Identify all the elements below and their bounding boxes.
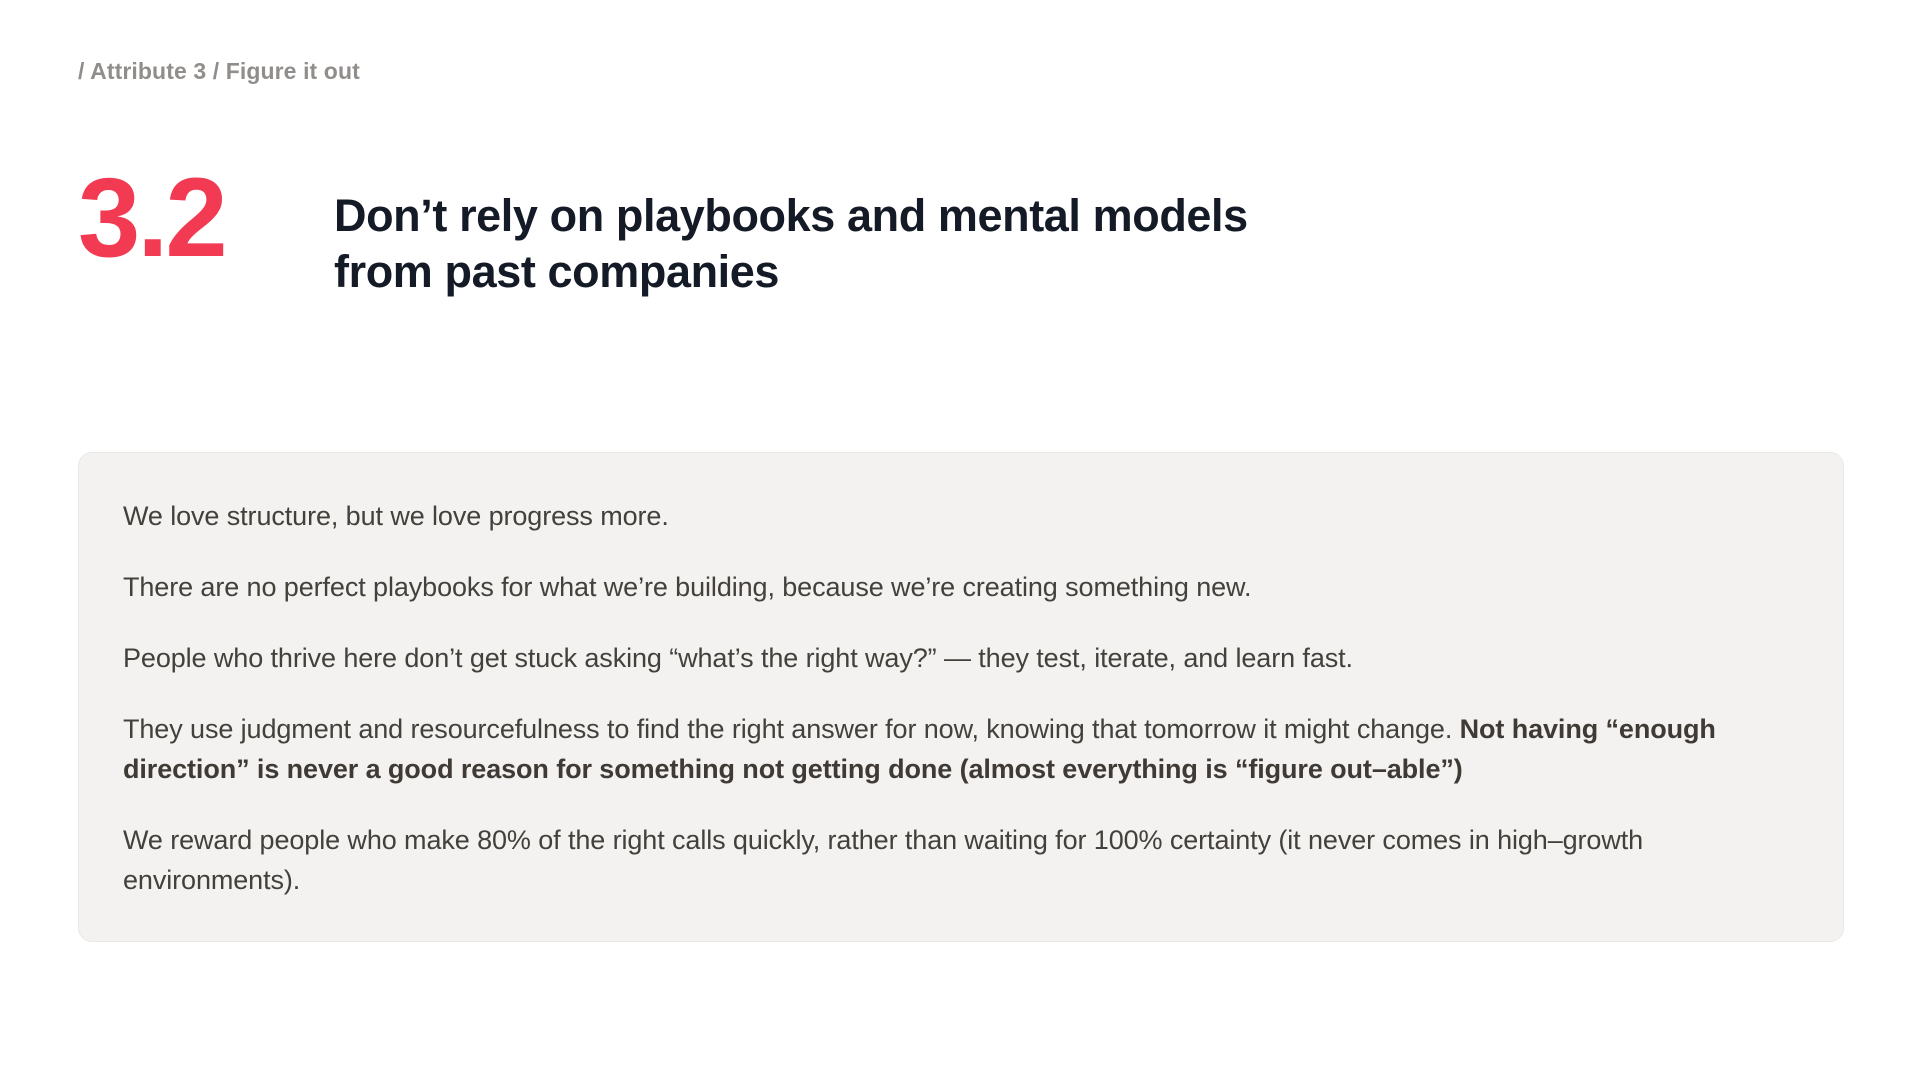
- section-number: 3.2: [78, 164, 334, 272]
- slide-canvas: / Attribute 3 / Figure it out 3.2 Don’t …: [0, 0, 1920, 1080]
- page-title-line-2: from past companies: [334, 244, 1248, 300]
- body-paragraph-1: We love structure, but we love progress …: [123, 497, 1799, 537]
- body-paragraph-5: We reward people who make 80% of the rig…: [123, 821, 1799, 901]
- body-paragraph-4-lead: They use judgment and resourcefulness to…: [123, 714, 1460, 744]
- body-paragraph-2: There are no perfect playbooks for what …: [123, 568, 1799, 608]
- page-title: Don’t rely on playbooks and mental model…: [334, 188, 1248, 300]
- body-card: We love structure, but we love progress …: [78, 452, 1844, 942]
- breadcrumb: / Attribute 3 / Figure it out: [78, 58, 360, 85]
- body-paragraph-4: They use judgment and resourcefulness to…: [123, 710, 1799, 790]
- headline-block: 3.2 Don’t rely on playbooks and mental m…: [78, 188, 1248, 300]
- page-title-line-1: Don’t rely on playbooks and mental model…: [334, 188, 1248, 244]
- body-paragraph-3: People who thrive here don’t get stuck a…: [123, 639, 1799, 679]
